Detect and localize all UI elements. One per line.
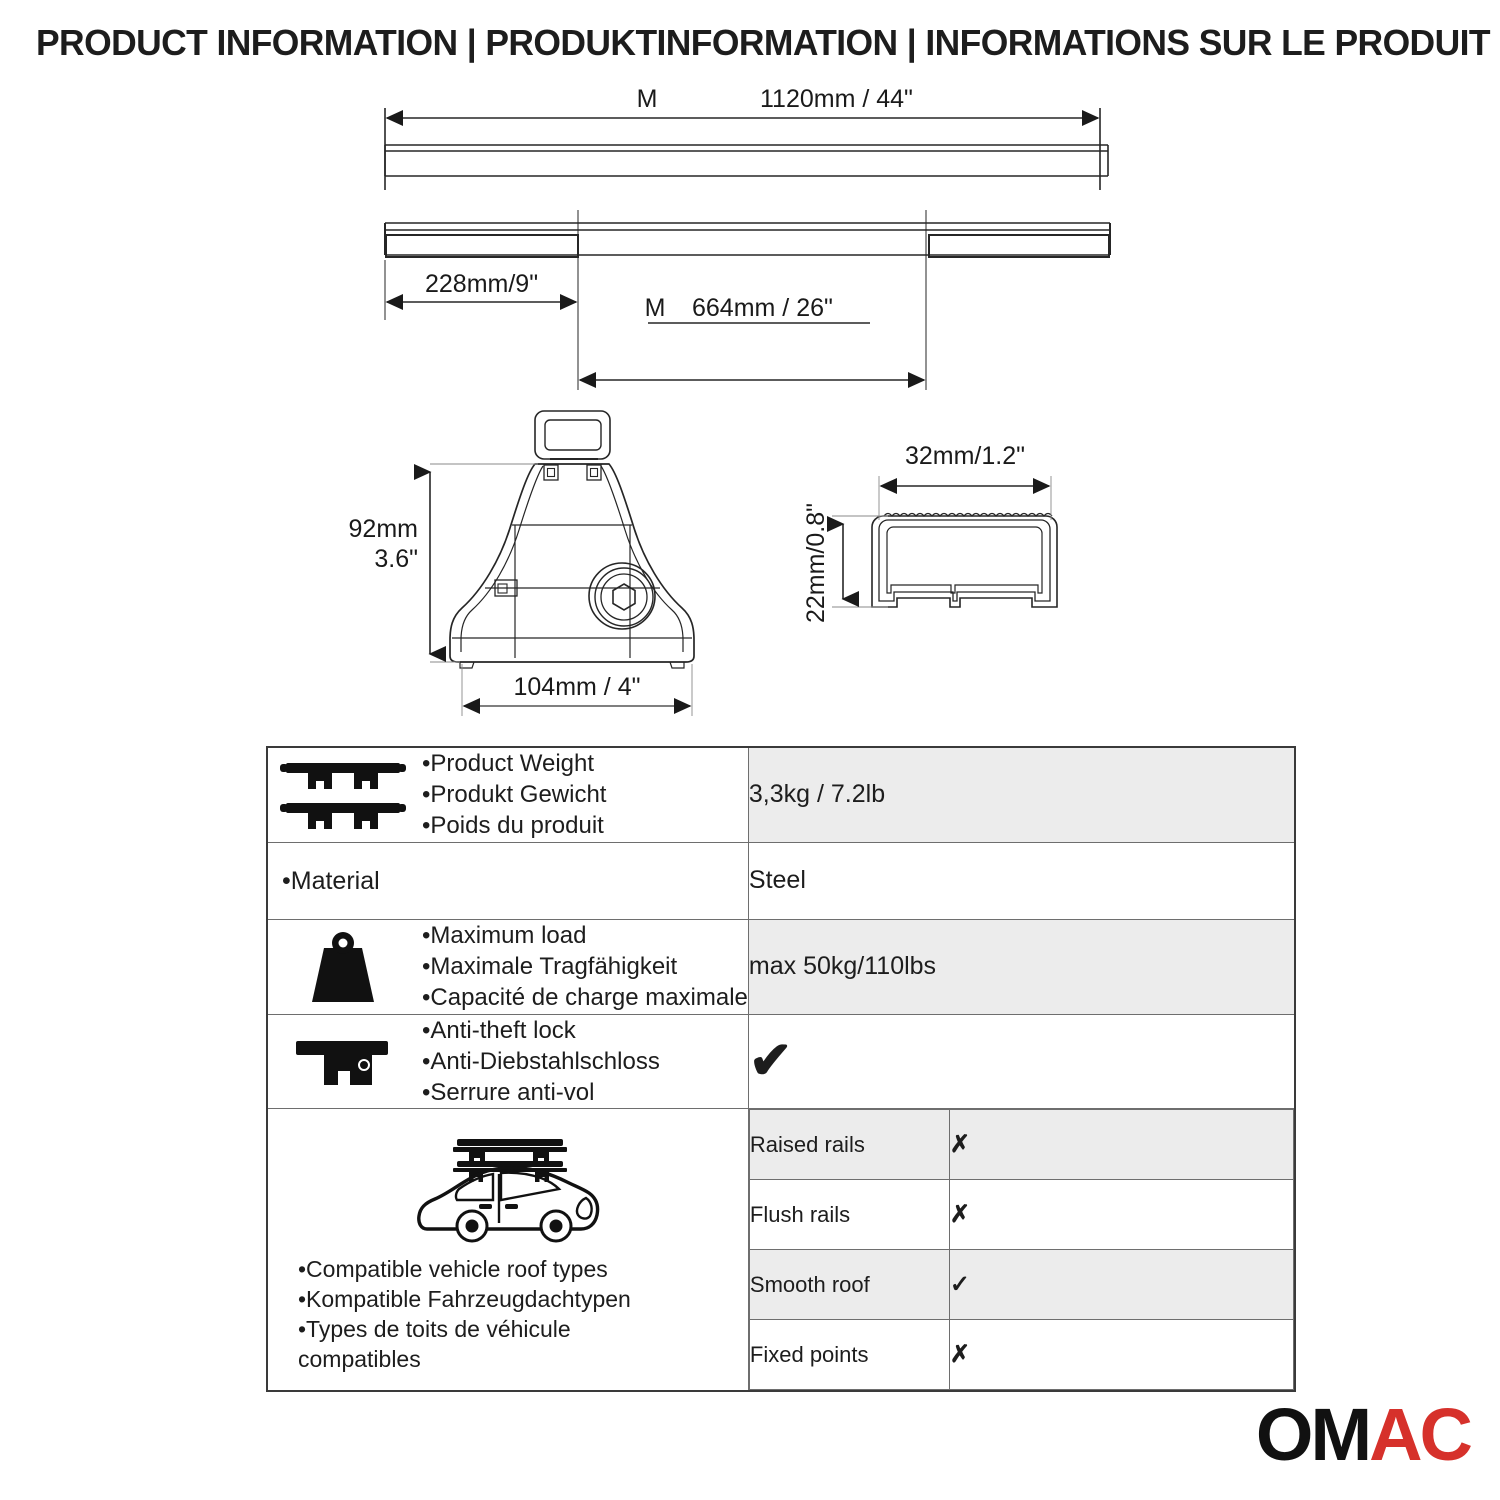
dim-foot-height-l2: 3.6" [374, 545, 418, 573]
page-title: PRODUCT INFORMATION | PRODUKTINFORMATION… [36, 22, 1445, 64]
technical-drawings: M 1120mm / 44" 228mm/9" M 664mm / 26" 92… [0, 80, 1500, 740]
compat-row-flush-rails: Flush rails ✗ [749, 1180, 1293, 1250]
spec-bullets-maxload: •Maximum load •Maximale Tragfähigkeit •C… [422, 920, 748, 1014]
dim-foot-width: 104mm / 4" [514, 673, 641, 701]
compat-row-raised-rails: Raised rails ✗ [749, 1110, 1293, 1180]
compat-name: Smooth roof [749, 1250, 949, 1320]
spec-label-compatibility: •Compatible vehicle roof types •Kompatib… [267, 1109, 748, 1392]
spec-bullets-material: •Material [268, 843, 748, 920]
crossbars-icon [268, 749, 418, 841]
dim-bar-length-prefix: M [637, 85, 658, 113]
spec-label-lock: •Anti-theft lock •Anti-Diebstahlschloss … [267, 1014, 748, 1109]
bullet-line: •Anti-Diebstahlschloss [422, 1046, 660, 1077]
bullet-line: •Poids du produit [422, 810, 606, 841]
weight-icon [268, 924, 418, 1010]
car-with-rack-icon [268, 1125, 748, 1255]
logo-text-dark: OM [1256, 1393, 1369, 1476]
bullet-line: •Capacité de charge maximale [422, 982, 748, 1013]
spec-value-weight: 3,3kg / 7.2lb [748, 747, 1295, 842]
spec-label-maxload: •Maximum load •Maximale Tragfähigkeit •C… [267, 920, 748, 1015]
bullet-line: •Serrure anti-vol [422, 1077, 660, 1108]
dim-bar-length-value: 1120mm / 44" [760, 85, 913, 113]
dim-foot-spacing-value: 664mm / 26" [692, 294, 833, 322]
dim-profile-width: 32mm/1.2" [905, 442, 1025, 470]
bullet-line: •Kompatible Fahrzeugdachtypen [298, 1285, 748, 1315]
spec-label-weight: •Product Weight •Produkt Gewicht •Poids … [267, 747, 748, 842]
spec-label-material: •Material [267, 842, 748, 920]
bullet-line: •Maximum load [422, 920, 748, 951]
compat-row-fixed-points: Fixed points ✗ [749, 1320, 1293, 1390]
compat-row-smooth-roof: Smooth roof ✓ [749, 1250, 1293, 1320]
spec-value-maxload: max 50kg/110lbs [748, 920, 1295, 1015]
compat-value: ✗ [949, 1320, 1293, 1390]
compat-value: ✗ [949, 1180, 1293, 1250]
compat-value: ✗ [949, 1110, 1293, 1180]
lock-icon [268, 1019, 418, 1103]
compatibility-sub-table: Raised rails ✗ Flush rails ✗ Smooth roof… [748, 1109, 1295, 1392]
table-row: •Product Weight •Produkt Gewicht •Poids … [267, 747, 1295, 842]
omac-logo: OMAC [1256, 1398, 1470, 1472]
dim-foot-height-l1: 92mm [349, 515, 418, 543]
spec-value-material: Steel [748, 842, 1295, 920]
checkmark-icon: ✔ [749, 1041, 1294, 1083]
table-row: •Anti-theft lock •Anti-Diebstahlschloss … [267, 1014, 1295, 1109]
dim-foot-spacing-prefix: M [645, 294, 666, 322]
dim-profile-height: 22mm/0.8" [802, 503, 830, 623]
bullet-line: •Anti-theft lock [422, 1015, 660, 1046]
bullet-line: •Produkt Gewicht [422, 779, 606, 810]
bullet-line: •Product Weight [422, 748, 606, 779]
spec-bullets-weight: •Product Weight •Produkt Gewicht •Poids … [422, 748, 606, 842]
spec-value-lock: ✔ [748, 1014, 1295, 1109]
bullet-line: •Types de toits de véhicule [298, 1315, 748, 1345]
dim-foot-offset: 228mm/9" [425, 270, 538, 298]
logo-text-red: AC [1369, 1393, 1470, 1476]
compat-name: Raised rails [749, 1110, 949, 1180]
compat-value: ✓ [949, 1250, 1293, 1320]
compat-name: Flush rails [749, 1180, 949, 1250]
table-row-compatibility: •Compatible vehicle roof types •Kompatib… [267, 1109, 1295, 1392]
spec-bullets-lock: •Anti-theft lock •Anti-Diebstahlschloss … [422, 1015, 660, 1109]
compat-name: Fixed points [749, 1320, 949, 1390]
spec-bullets-compatibility: •Compatible vehicle roof types •Kompatib… [268, 1255, 748, 1375]
table-row: •Material Steel [267, 842, 1295, 920]
bullet-line: •Compatible vehicle roof types [298, 1255, 748, 1285]
specification-table: •Product Weight •Produkt Gewicht •Poids … [266, 746, 1296, 1392]
bullet-line: compatibles [298, 1345, 748, 1375]
table-row: •Maximum load •Maximale Tragfähigkeit •C… [267, 920, 1295, 1015]
bullet-line: •Maximale Tragfähigkeit [422, 951, 748, 982]
